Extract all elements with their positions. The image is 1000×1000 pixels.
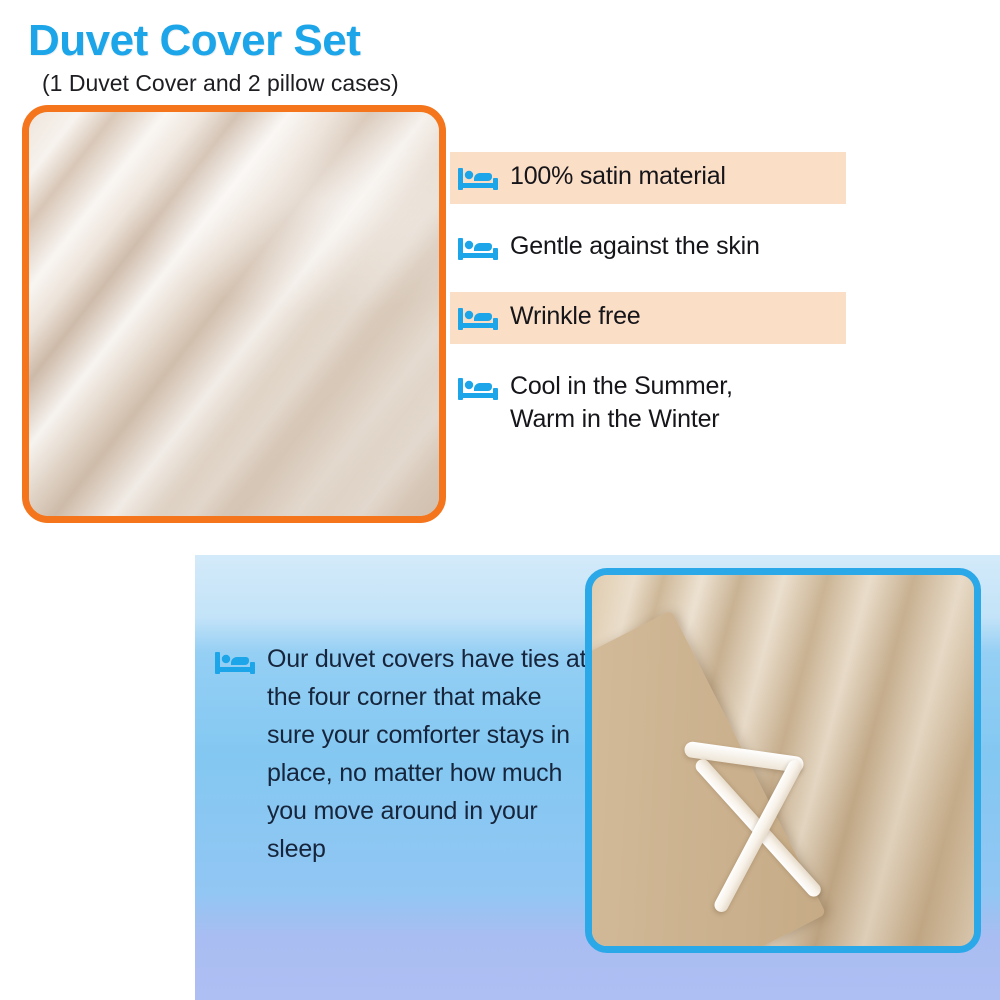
- feature-label: Gentle against the skin: [510, 230, 760, 263]
- bed-icon: [458, 164, 498, 192]
- feature-label: 100% satin material: [510, 160, 726, 193]
- corner-tie-photo: [592, 575, 974, 946]
- page-title: Duvet Cover Set: [28, 16, 360, 66]
- feature-label: Cool in the Summer, Warm in the Winter: [510, 370, 733, 436]
- feature-row: Gentle against the skin: [450, 222, 850, 274]
- tie-photo-frame: [585, 568, 981, 953]
- page-subtitle: (1 Duvet Cover and 2 pillow cases): [42, 70, 399, 97]
- feature-row: Wrinkle free: [450, 292, 846, 344]
- bed-icon: [458, 304, 498, 332]
- bed-icon: [458, 234, 498, 262]
- bed-icon: [215, 648, 255, 676]
- ties-text-block: Our duvet covers have ties at the four c…: [215, 640, 590, 868]
- fabric-photo-frame: [22, 105, 446, 523]
- top-section: Duvet Cover Set (1 Duvet Cover and 2 pil…: [0, 0, 1000, 555]
- satin-fabric-photo: [29, 112, 439, 516]
- feature-row: 100% satin material: [450, 152, 846, 204]
- ties-paragraph: Our duvet covers have ties at the four c…: [267, 640, 590, 868]
- bottom-panel: Our duvet covers have ties at the four c…: [195, 555, 1000, 1000]
- feature-list: 100% satin material Gentle against the s…: [450, 152, 850, 462]
- feature-label: Wrinkle free: [510, 300, 641, 333]
- feature-row: Cool in the Summer, Warm in the Winter: [450, 362, 850, 444]
- bed-icon: [458, 374, 498, 402]
